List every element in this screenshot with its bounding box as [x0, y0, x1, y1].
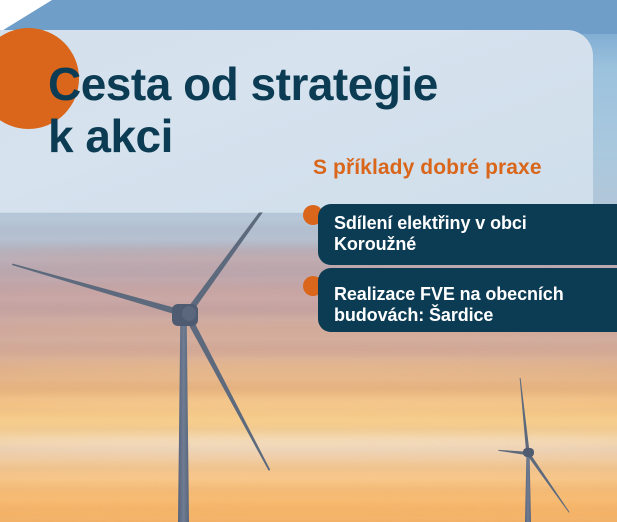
- turbine-blade: [11, 259, 189, 320]
- turbine-blade: [518, 378, 531, 454]
- turbine-mast: [525, 450, 531, 522]
- distant-wind-turbine: [440, 380, 617, 522]
- subtitle: S příklady dobré praxe: [313, 156, 542, 180]
- turbine-nose-cone: [182, 306, 196, 321]
- example-card-korouzne[interactable]: Sdílení elektřiny v obci Koroužné: [318, 204, 617, 265]
- example-card-sardice[interactable]: Realizace FVE na obecních budovách: Šard…: [318, 268, 617, 332]
- turbine-blade: [526, 452, 571, 514]
- turbine-mast: [178, 310, 189, 522]
- turbine-hub: [523, 448, 534, 457]
- top-blue-strip: [0, 0, 617, 34]
- page-title: Cesta od strategie k akci: [48, 58, 588, 162]
- poster-slide: Cesta od strategie k akci S příklady dob…: [0, 0, 617, 522]
- turbine-blade: [183, 313, 274, 473]
